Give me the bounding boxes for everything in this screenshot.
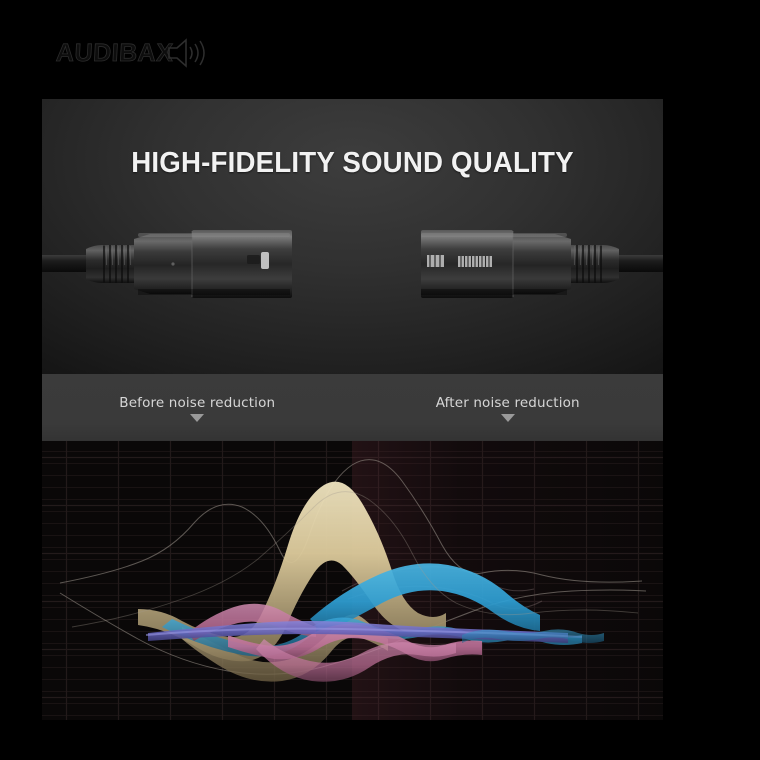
waveform-panel <box>42 441 663 720</box>
speaker-wave-icon <box>166 36 206 70</box>
waveform-visualization <box>42 441 663 720</box>
page-root: AUDIBAX HIGH-FIDELITY SOUND QUALITY <box>0 0 760 760</box>
brand-logo: AUDIBAX <box>56 33 206 73</box>
hero-section: HIGH-FIDELITY SOUND QUALITY <box>42 99 663 374</box>
caption-after: After noise reduction <box>353 374 664 441</box>
product-feature-card: HIGH-FIDELITY SOUND QUALITY <box>42 99 663 720</box>
caption-before: Before noise reduction <box>42 374 353 441</box>
triangle-down-icon <box>501 414 515 422</box>
connector-illustration <box>42 209 663 319</box>
brand-name: AUDIBAX <box>55 41 174 66</box>
caption-after-label: After noise reduction <box>436 395 580 411</box>
xlr-male-connector <box>42 230 292 298</box>
page-title: HIGH-FIDELITY SOUND QUALITY <box>51 147 653 180</box>
caption-bar: Before noise reduction After noise reduc… <box>42 374 663 441</box>
xlr-female-connector <box>421 230 663 298</box>
caption-before-label: Before noise reduction <box>119 395 275 411</box>
triangle-down-icon <box>190 414 204 422</box>
